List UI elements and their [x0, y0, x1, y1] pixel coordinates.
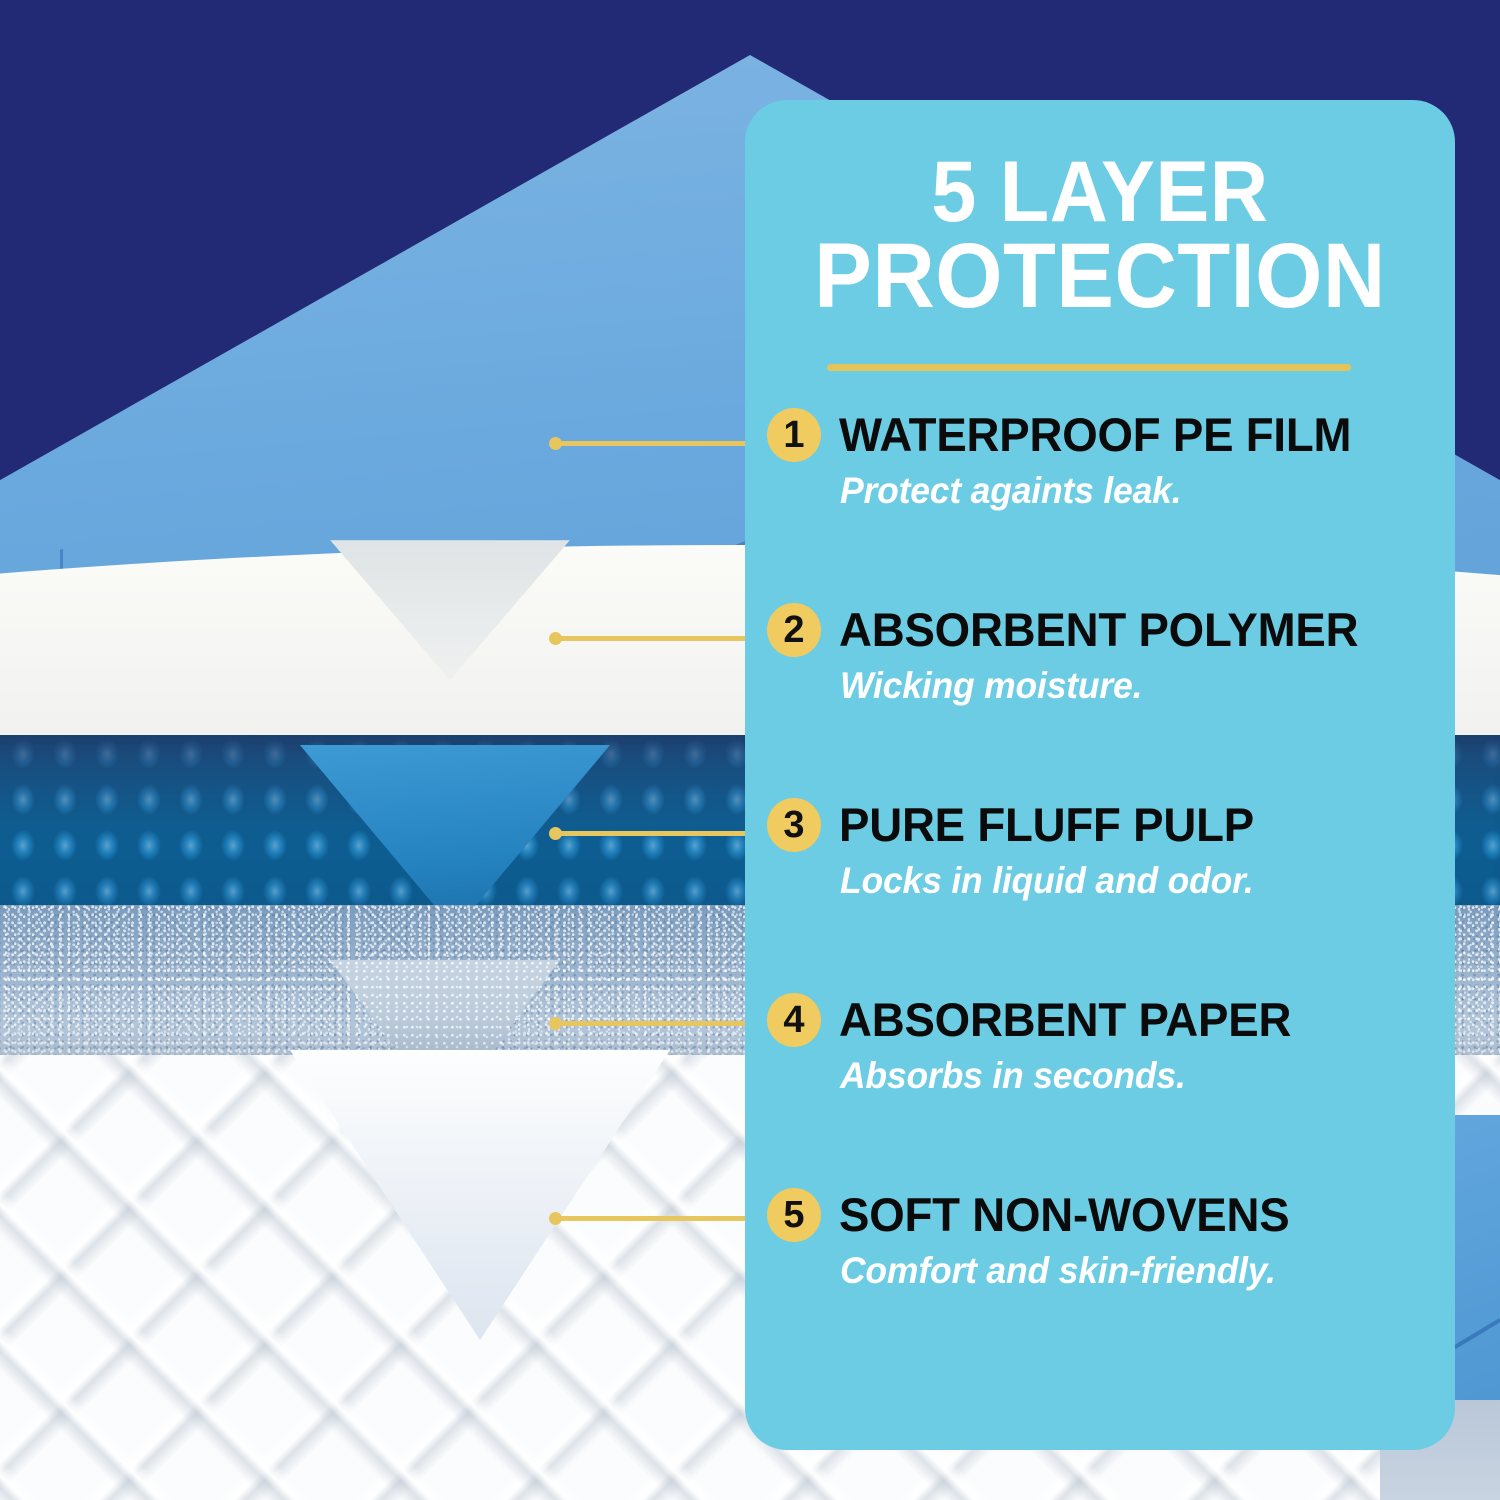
list-item-layer-5: 5 SOFT NON-WOVENS Comfort and skin-frien… — [745, 1188, 1455, 1383]
layer-subtitle-3: Locks in liquid and odor. — [767, 862, 1427, 901]
layer-number-badge-5: 5 — [767, 1188, 821, 1242]
layer-2-heading: 2 ABSORBENT POLYMER — [767, 603, 1455, 657]
layer-subtitle-1: Protect againts leak. — [767, 472, 1427, 511]
layer-number-badge-2: 2 — [767, 603, 821, 657]
title-divider — [827, 364, 1351, 371]
layer-title-4: ABSORBENT PAPER — [839, 996, 1291, 1044]
layer-title-5: SOFT NON-WOVENS — [839, 1191, 1289, 1239]
layer-number-badge-1: 1 — [767, 408, 821, 462]
layers-list: 1 WATERPROOF PE FILM Protect againts lea… — [745, 408, 1455, 1383]
layer-number-badge-3: 3 — [767, 798, 821, 852]
layer-5-heading: 5 SOFT NON-WOVENS — [767, 1188, 1455, 1242]
layer-title-1: WATERPROOF PE FILM — [839, 411, 1351, 459]
layer-title-3: PURE FLUFF PULP — [839, 801, 1254, 849]
panel-title: 5 LAYER PROTECTION — [766, 100, 1433, 319]
infographic-canvas: 5 LAYER PROTECTION 1 WATERPROOF PE FILM … — [0, 0, 1500, 1500]
panel-title-line-2: PROTECTION — [791, 233, 1410, 319]
layer-3-heading: 3 PURE FLUFF PULP — [767, 798, 1455, 852]
layer-protection-panel: 5 LAYER PROTECTION 1 WATERPROOF PE FILM … — [745, 100, 1455, 1450]
layer-1-heading: 1 WATERPROOF PE FILM — [767, 408, 1455, 462]
layer-4-heading: 4 ABSORBENT PAPER — [767, 993, 1455, 1047]
layer-subtitle-4: Absorbs in seconds. — [767, 1057, 1427, 1096]
list-item-layer-1: 1 WATERPROOF PE FILM Protect againts lea… — [745, 408, 1455, 603]
layer-subtitle-2: Wicking moisture. — [767, 667, 1427, 706]
layer-title-2: ABSORBENT POLYMER — [839, 606, 1358, 654]
list-item-layer-3: 3 PURE FLUFF PULP Locks in liquid and od… — [745, 798, 1455, 993]
list-item-layer-4: 4 ABSORBENT PAPER Absorbs in seconds. — [745, 993, 1455, 1188]
layer-number-badge-4: 4 — [767, 993, 821, 1047]
list-item-layer-2: 2 ABSORBENT POLYMER Wicking moisture. — [745, 603, 1455, 798]
layer-subtitle-5: Comfort and skin-friendly. — [767, 1252, 1427, 1291]
